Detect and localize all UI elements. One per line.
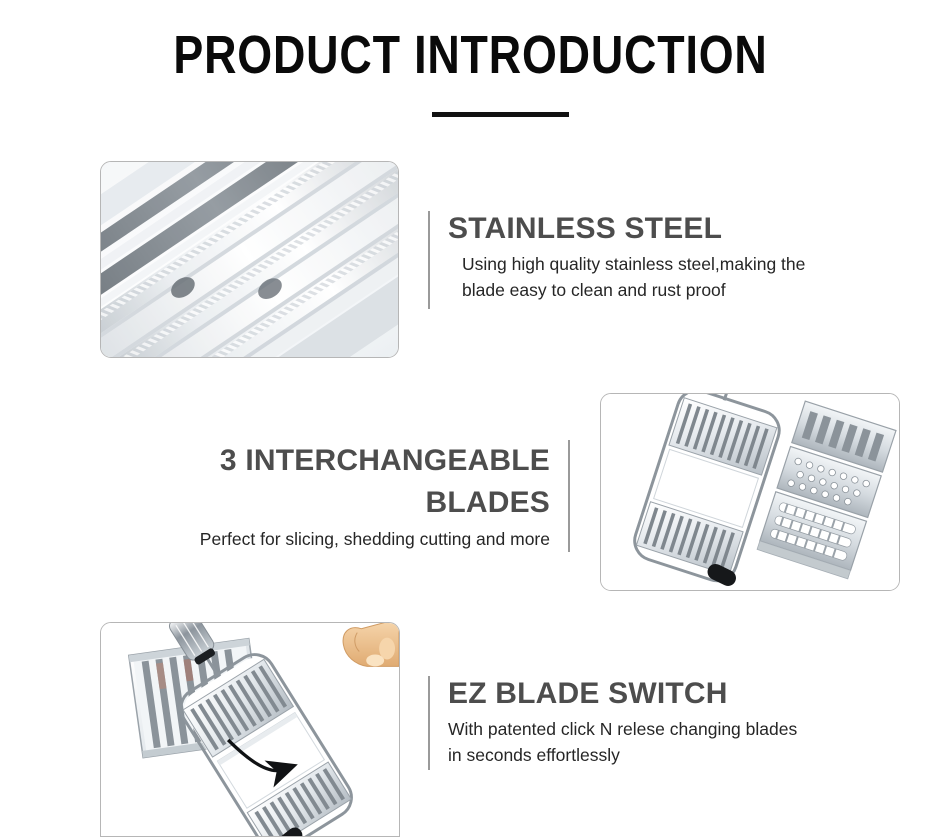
interchangeable-blades-photo	[600, 393, 900, 591]
feature-heading: EZ BLADE SWITCH	[448, 676, 858, 712]
ez-blade-switch-illustration	[101, 623, 399, 836]
ez-blade-switch-photo	[100, 622, 400, 837]
stainless-steel-blades-photo	[100, 161, 399, 358]
feature-description: Using high quality stainless steel,makin…	[448, 251, 858, 303]
feature-heading: 3 INTERCHANGEABLE BLADES	[160, 440, 550, 524]
feature-heading: STAINLESS STEEL	[448, 211, 858, 247]
feature-divider-rule	[568, 440, 570, 552]
feature-description: Perfect for slicing, shedding cutting an…	[160, 526, 550, 552]
feature-divider-rule	[428, 676, 430, 770]
stainless-steel-blades-illustration	[101, 162, 398, 357]
feature-block-ez-blade-switch: EZ BLADE SWITCH With patented click N re…	[428, 676, 858, 770]
interchangeable-blades-illustration	[601, 394, 899, 590]
title-underline-rule	[432, 112, 569, 117]
feature-description: With patented click N relese changing bl…	[448, 716, 858, 768]
feature-block-stainless-steel: STAINLESS STEEL Using high quality stain…	[428, 211, 858, 309]
feature-block-interchangeable-blades: 3 INTERCHANGEABLE BLADES Perfect for sli…	[160, 440, 570, 552]
page-title: PRODUCT INTRODUCTION	[80, 26, 861, 84]
feature-divider-rule	[428, 211, 430, 309]
